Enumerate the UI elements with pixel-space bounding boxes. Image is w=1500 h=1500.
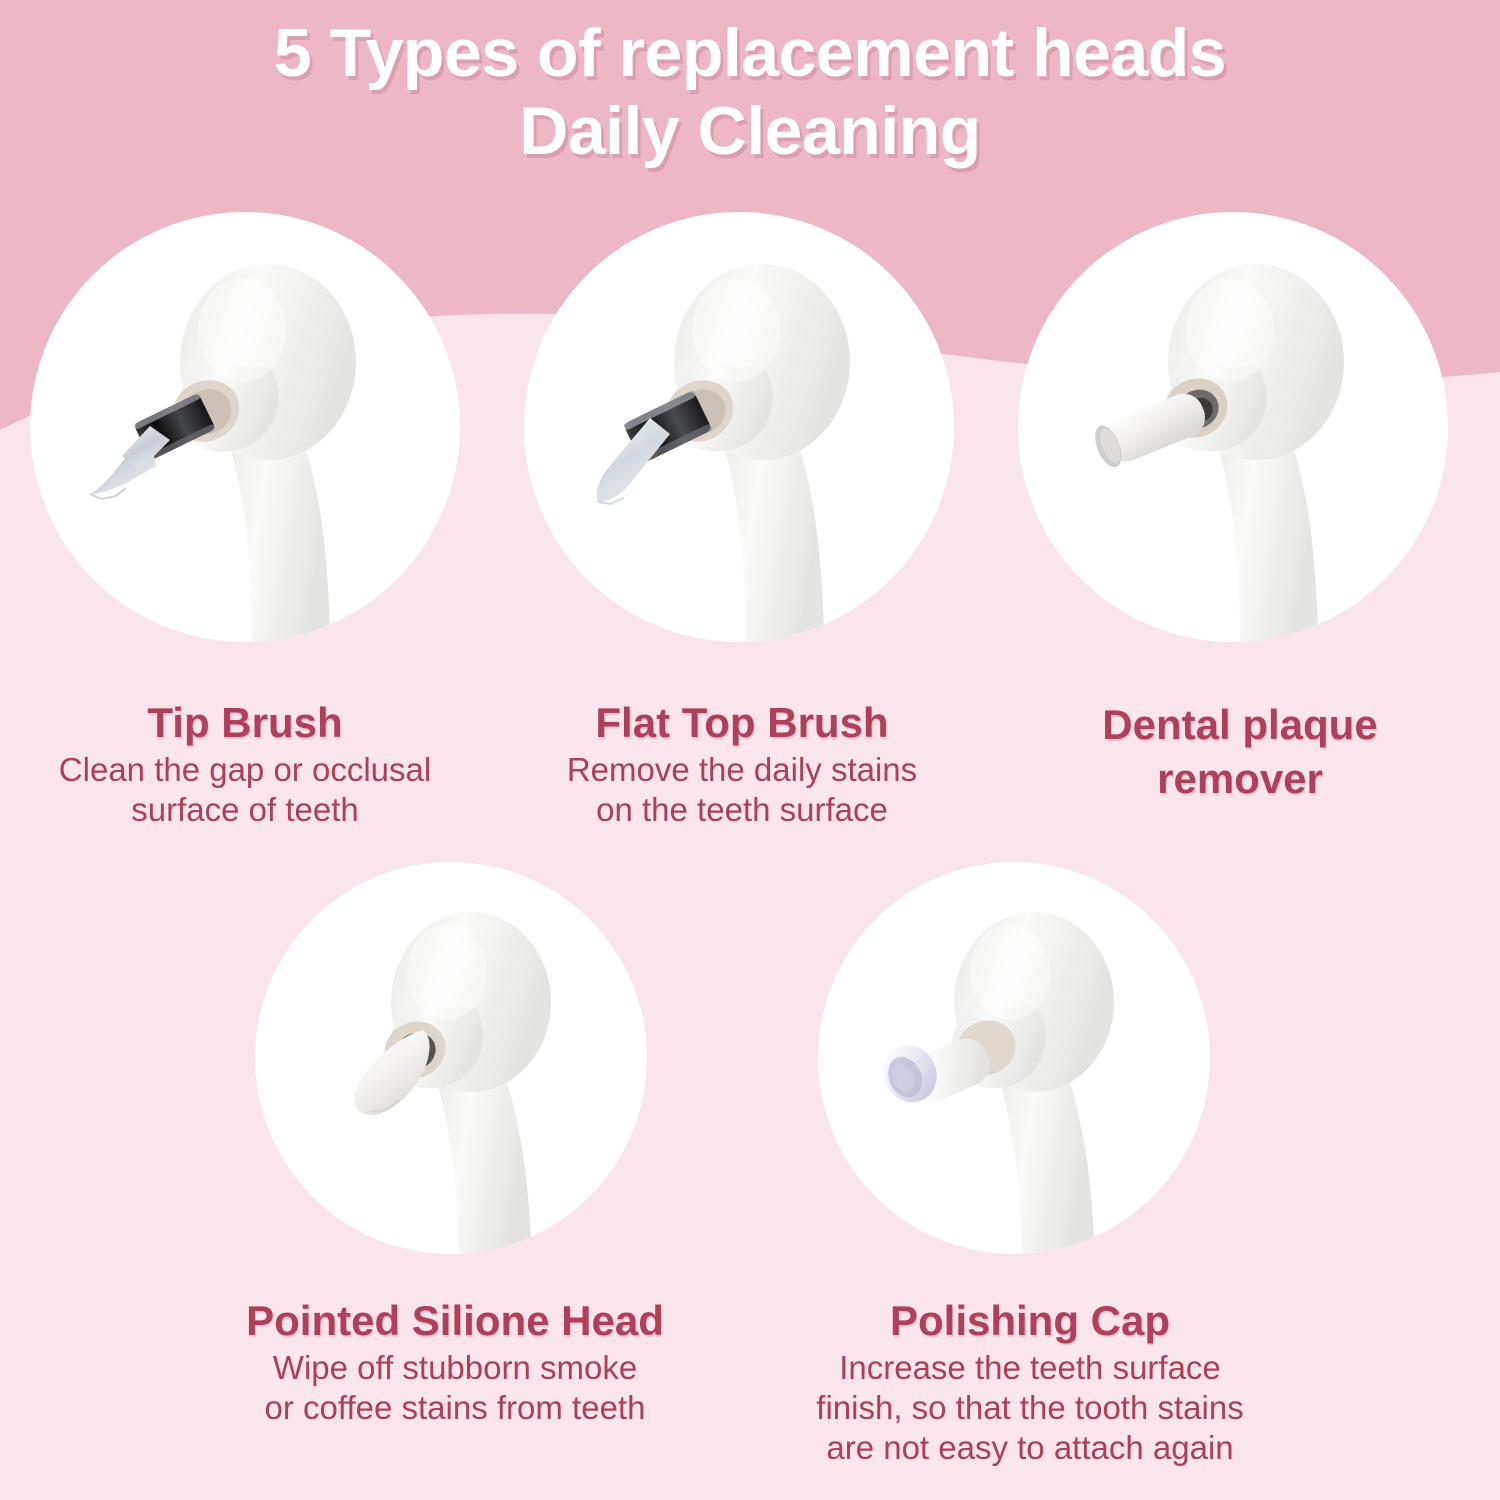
caption-desc-line: Clean the gap or occlusal — [15, 750, 475, 790]
product-photo-dental-plaque-remover — [1018, 212, 1448, 642]
caption-desc-line: are not easy to attach again — [770, 1428, 1290, 1468]
product-circle-dental-plaque-remover[interactable] — [1018, 212, 1448, 642]
caption-desc: Clean the gap or occlusal surface of tee… — [15, 750, 475, 830]
product-photo-tip-brush — [30, 212, 460, 642]
caption-desc-line: or coffee stains from teeth — [205, 1388, 705, 1428]
caption-tip-brush: Tip Brush Clean the gap or occlusal surf… — [15, 698, 475, 830]
caption-dental-plaque-remover: Dental plaque remover — [1020, 698, 1460, 806]
caption-title: Tip Brush — [15, 698, 475, 748]
product-photo-pointed-silione-head — [255, 862, 647, 1254]
caption-title: Pointed Silione Head — [205, 1296, 705, 1346]
caption-pointed-silione-head: Pointed Silione Head Wipe off stubborn s… — [205, 1296, 705, 1428]
product-photo-flat-top-brush — [524, 212, 954, 642]
caption-desc-line: finish, so that the tooth stains — [770, 1388, 1290, 1428]
product-photo-polishing-cap — [818, 862, 1210, 1254]
poster-title: 5 Types of replacement heads Daily Clean… — [0, 14, 1500, 170]
caption-desc-line: on the teeth surface — [512, 790, 972, 830]
title-line-1: 5 Types of replacement heads — [0, 14, 1500, 92]
product-circle-polishing-cap[interactable] — [818, 862, 1210, 1254]
caption-desc-line: Wipe off stubborn smoke — [205, 1348, 705, 1388]
caption-desc-line: Increase the teeth surface — [770, 1348, 1290, 1388]
caption-desc-line: Remove the daily stains — [512, 750, 972, 790]
caption-desc: Increase the teeth surface finish, so th… — [770, 1348, 1290, 1468]
caption-polishing-cap: Polishing Cap Increase the teeth surface… — [770, 1296, 1290, 1468]
caption-title: Flat Top Brush — [512, 698, 972, 748]
caption-title: Polishing Cap — [770, 1296, 1290, 1346]
caption-desc: Wipe off stubborn smoke or coffee stains… — [205, 1348, 705, 1428]
caption-flat-top-brush: Flat Top Brush Remove the daily stains o… — [512, 698, 972, 830]
caption-desc: Remove the daily stains on the teeth sur… — [512, 750, 972, 830]
caption-desc-line: surface of teeth — [15, 790, 475, 830]
title-line-2: Daily Cleaning — [0, 92, 1500, 170]
product-circle-flat-top-brush[interactable] — [524, 212, 954, 642]
caption-title: Dental plaque remover — [1020, 698, 1460, 806]
product-circle-tip-brush[interactable] — [30, 212, 460, 642]
infographic-poster: 5 Types of replacement heads Daily Clean… — [0, 0, 1500, 1500]
product-circle-pointed-silione-head[interactable] — [255, 862, 647, 1254]
